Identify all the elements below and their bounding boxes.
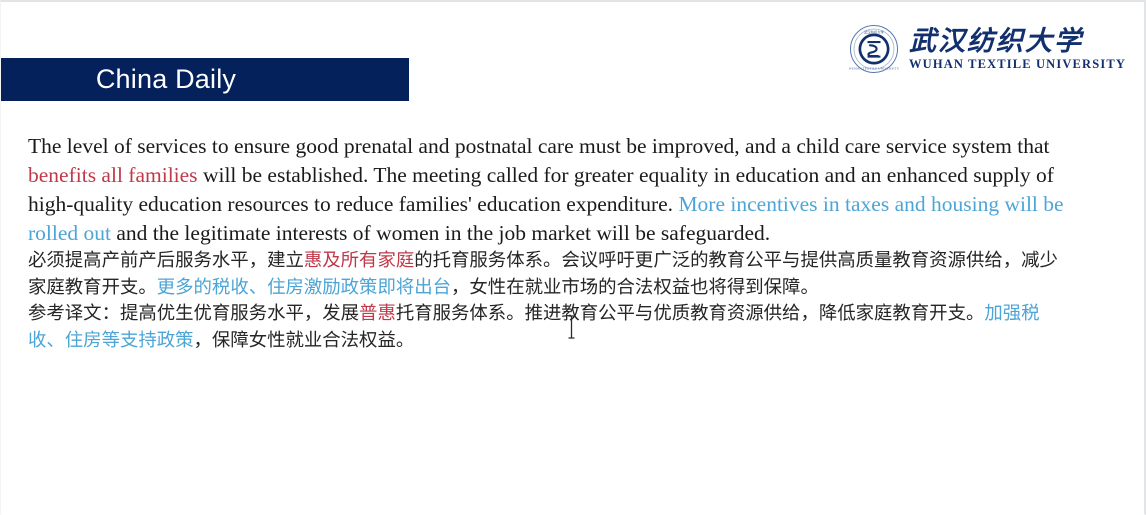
paragraph-reference-translation: 参考译文：提高优生优育服务水平，发展普惠托育服务体系。推进教育公平与优质教育资源… xyxy=(28,301,1072,354)
reference-segment-1: 参考译文：提高优生优育服务水平，发展 xyxy=(28,303,359,324)
english-segment-1: The level of services to ensure good pre… xyxy=(28,134,1049,158)
university-logo: 武汉纺织大学 WUHAN TEXTILE UNIVERSITY 武汉纺织大学 W… xyxy=(849,24,1126,74)
paragraph-chinese-translation: 必须提高产前产后服务水平，建立惠及所有家庭的托育服务体系。会议呼吁更广泛的教育公… xyxy=(28,248,1072,301)
chinese-highlight-blue: 更多的税收、住房激励政策即将出台 xyxy=(157,277,451,298)
svg-text:武汉纺织大学: 武汉纺织大学 xyxy=(864,29,884,34)
university-name-cn: 武汉纺织大学 xyxy=(909,28,1083,57)
university-wordmark: 武汉纺织大学 WUHAN TEXTILE UNIVERSITY xyxy=(909,26,1126,72)
reference-segment-5: ，保障女性就业合法权益。 xyxy=(194,330,415,351)
slide-body-text: The level of services to ensure good pre… xyxy=(28,132,1072,354)
reference-highlight-red: 普惠 xyxy=(359,303,396,324)
chinese-segment-1: 必须提高产前产后服务水平，建立 xyxy=(28,250,304,271)
slide-canvas: China Daily 武汉纺织大学 WUHAN TEXTILE UNIVERS… xyxy=(0,0,1146,515)
chinese-segment-5: ，女性在就业市场的合法权益也将得到保障。 xyxy=(451,277,819,298)
university-name-en: WUHAN TEXTILE UNIVERSITY xyxy=(909,58,1126,72)
banner-title-text: China Daily xyxy=(96,66,314,93)
english-highlight-red: benefits all families xyxy=(28,163,198,187)
svg-text:WUHAN TEXTILE UNIVERSITY: WUHAN TEXTILE UNIVERSITY xyxy=(849,67,899,71)
chinese-highlight-red: 惠及所有家庭 xyxy=(304,250,414,271)
china-daily-title-banner: China Daily xyxy=(1,58,409,101)
english-segment-5: and the legitimate interests of women in… xyxy=(111,221,770,245)
reference-segment-3: 托育服务体系。推进教育公平与优质教育资源供给，降低家庭教育开支。 xyxy=(396,303,985,324)
paragraph-english: The level of services to ensure good pre… xyxy=(28,132,1072,248)
university-emblem-icon: 武汉纺织大学 WUHAN TEXTILE UNIVERSITY xyxy=(849,24,899,74)
